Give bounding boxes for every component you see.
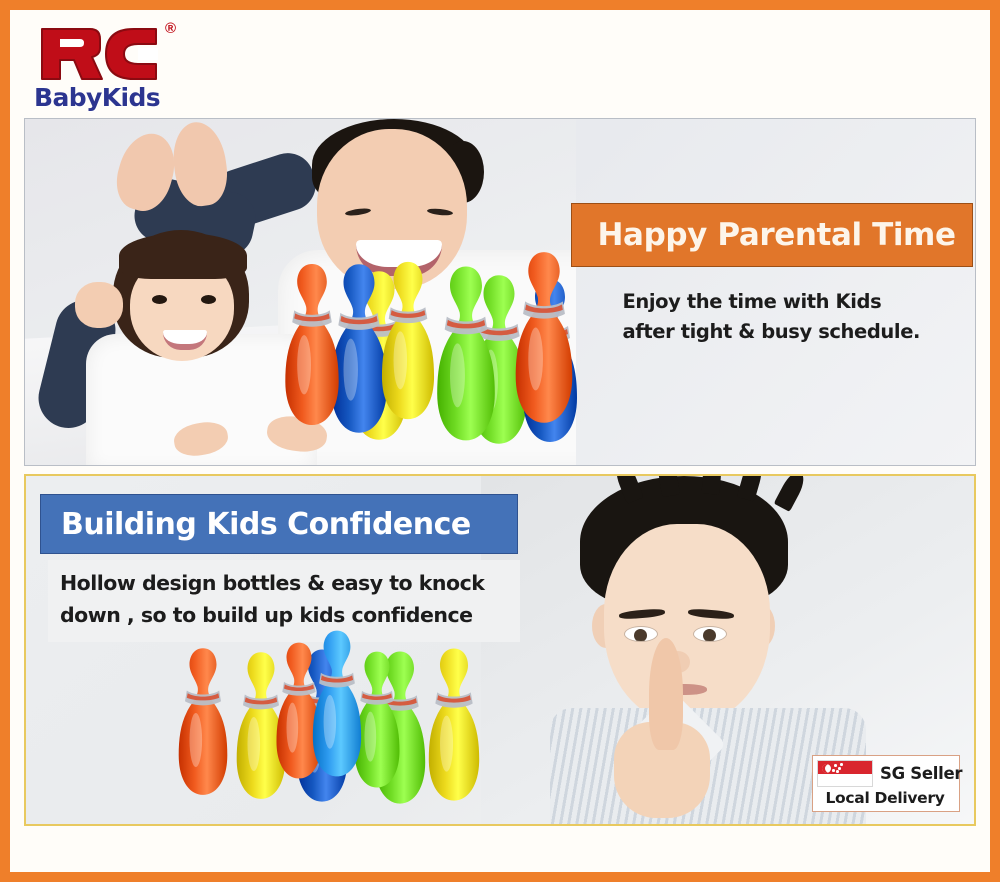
bowling-pins-bottom: [176, 630, 486, 820]
bowling-pin-shape: [512, 249, 576, 427]
brand-name: BabyKids: [34, 85, 976, 110]
banner-title: Building Kids Confidence: [61, 507, 471, 542]
star-icon: [838, 767, 841, 770]
hand-shape: [75, 282, 123, 328]
sg-seller-badge: SG Seller Local Delivery: [812, 755, 960, 812]
star-icon: [836, 770, 839, 773]
panel-building-kids-confidence: Building Kids Confidence Hollow design b…: [24, 474, 976, 826]
logo-rc-wrap: ®: [34, 24, 174, 84]
bowling-pin: [434, 263, 498, 445]
bowling-pin: [176, 642, 230, 802]
banner-building-kids-confidence: Building Kids Confidence: [40, 494, 518, 554]
banner-title: Happy Parental Time: [598, 217, 956, 253]
description-line-2: down , so to build up kids confidence: [60, 600, 510, 632]
top-panel-description: Enjoy the time with Kids after tight & b…: [623, 287, 953, 347]
page-inner: ® BabyKids: [10, 10, 990, 872]
page-frame: ® BabyKids: [0, 0, 1000, 882]
bowling-pins-top: [282, 243, 602, 463]
local-delivery-label: Local Delivery: [817, 789, 953, 807]
hair-spike: [773, 476, 808, 512]
bowling-pin-shape: [434, 263, 498, 445]
bowling-pin-shape: [426, 640, 482, 810]
boy-eye: [624, 626, 658, 642]
bowling-pin-shape: [282, 261, 342, 429]
boy-eye: [693, 626, 727, 642]
star-icon: [834, 764, 837, 767]
bowling-pin: [378, 259, 438, 423]
pupil: [703, 629, 716, 642]
description-line-1: Enjoy the time with Kids: [623, 287, 953, 317]
bowling-pin: [512, 249, 576, 427]
sg-badge-row: SG Seller: [817, 760, 953, 787]
sg-seller-label: SG Seller: [880, 764, 962, 783]
top-panel-text-column: Happy Parental Time Enjoy the time with …: [567, 119, 976, 465]
bowling-pin: [426, 640, 482, 810]
panel-happy-parental-time: Happy Parental Time Enjoy the time with …: [24, 118, 976, 466]
description-line-2: after tight & busy schedule.: [623, 317, 953, 347]
registered-trademark-icon: ®: [165, 21, 176, 36]
star-icon: [832, 769, 835, 772]
girl-bangs: [119, 233, 247, 279]
pupil: [634, 629, 647, 642]
description-line-1: Hollow design bottles & easy to knock: [60, 568, 510, 600]
bowling-pin-shape: [176, 642, 230, 802]
rc-logo-icon: [34, 24, 162, 84]
bowling-pin-shape: [308, 628, 366, 780]
singapore-flag-icon: [817, 760, 873, 787]
brand-logo[interactable]: ® BabyKids: [24, 18, 976, 118]
bowling-pin-shape: [378, 259, 438, 423]
bowling-pin: [282, 261, 342, 429]
crescent-icon: [822, 764, 831, 773]
star-icon: [840, 763, 843, 766]
hair-spike: [702, 476, 723, 495]
banner-happy-parental-time: Happy Parental Time: [571, 203, 974, 267]
bowling-pin: [308, 628, 366, 780]
thumbs-up-icon: [649, 638, 683, 750]
flag-white-band: [818, 774, 872, 787]
